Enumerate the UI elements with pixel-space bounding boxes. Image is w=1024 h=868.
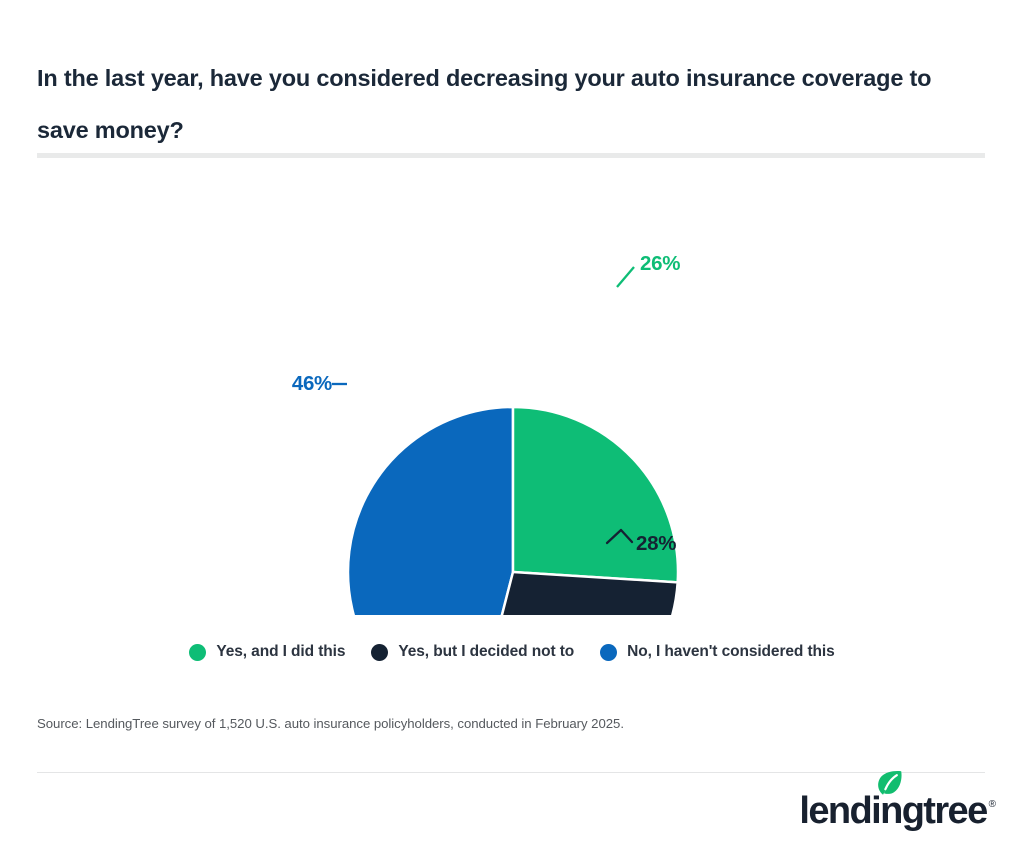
lendingtree-logo[interactable]: lendingtree ® [799,792,996,830]
leaf-icon [877,770,903,800]
pie-value-label-28: 28% [636,532,676,555]
legend-item-label: No, I haven't considered this [627,643,835,661]
legend-item-yes-did-this[interactable]: Yes, and I did this [189,643,345,661]
legend-item-no-havent-considered[interactable]: No, I haven't considered this [600,643,835,661]
registered-mark: ® [989,800,996,810]
legend-item-label: Yes, and I did this [216,643,345,661]
source-note: Source: LendingTree survey of 1,520 U.S.… [37,716,624,731]
legend-swatch-icon [189,644,206,661]
pie-chart: 26% 46% 28% [0,175,1024,615]
pie-chart-svg: 26% 46% 28% [0,175,1024,615]
legend-swatch-icon [371,644,388,661]
pie-value-label-46: 46% [292,372,332,395]
legend-item-label: Yes, but I decided not to [398,643,574,661]
header-divider [37,153,985,158]
legend-swatch-icon [600,644,617,661]
chart-legend: Yes, and I did this Yes, but I decided n… [0,643,1024,661]
footer-divider [37,772,985,773]
pie-slice-yes-did-this[interactable] [513,407,678,582]
pie-label-leader-26 [617,267,634,287]
chart-page: In the last year, have you considered de… [0,0,1024,868]
footer: lendingtree ® [0,786,1024,852]
pie-slice-no-havent-considered[interactable] [348,407,513,615]
legend-item-yes-decided-not-to[interactable]: Yes, but I decided not to [371,643,574,661]
pie-value-label-26: 26% [640,252,680,275]
title-block: In the last year, have you considered de… [37,52,977,156]
page-title: In the last year, have you considered de… [37,52,977,156]
